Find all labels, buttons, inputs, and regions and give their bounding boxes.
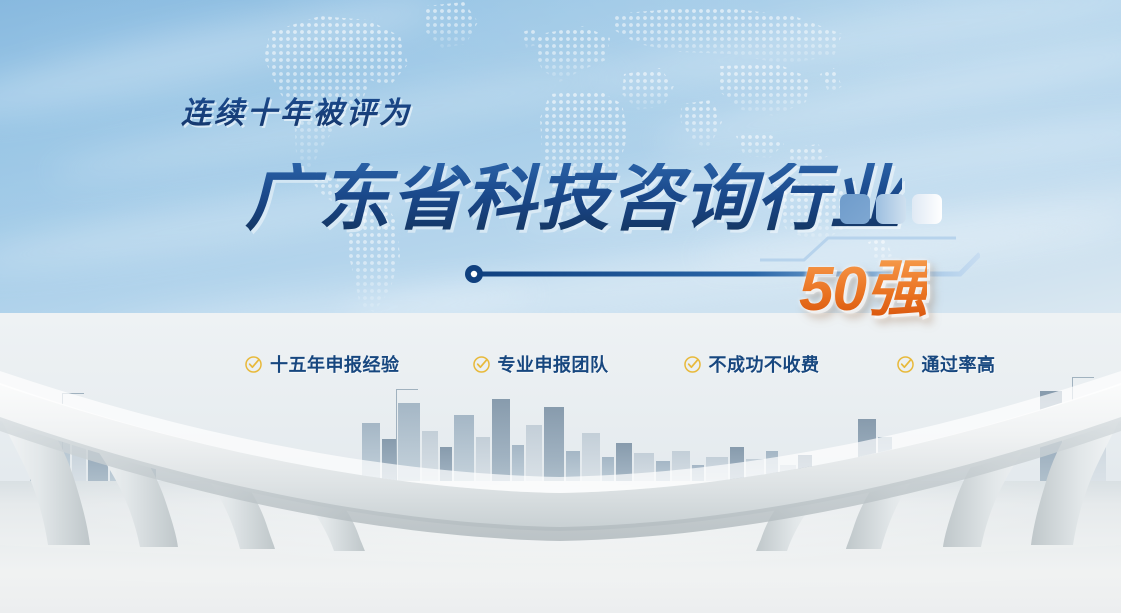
feature-item: 通过率高 [896, 351, 996, 377]
feature-label: 通过率高 [922, 351, 996, 377]
badge-50-strong: 50强 [799, 259, 927, 321]
banner-content: 连续十年被评为 广东省科技咨询行业 [0, 0, 1121, 613]
feature-label: 十五年申报经验 [270, 351, 400, 377]
square-blue-icon [840, 194, 870, 224]
square-white-icon [912, 194, 942, 224]
promo-banner: 连续十年被评为 广东省科技咨询行业 [0, 0, 1121, 613]
check-circle-icon [683, 355, 702, 374]
feature-label: 专业申报团队 [498, 351, 609, 377]
check-circle-icon [896, 355, 915, 374]
square-light-blue-icon [876, 194, 906, 224]
check-circle-icon [244, 355, 263, 374]
check-circle-icon [472, 355, 491, 374]
feature-item: 不成功不收费 [683, 351, 820, 377]
feature-label: 不成功不收费 [709, 351, 820, 377]
kicker-text: 连续十年被评为 [181, 88, 412, 132]
feature-item: 专业申报团队 [472, 351, 609, 377]
feature-item: 十五年申报经验 [244, 351, 400, 377]
decor-squares [840, 194, 942, 224]
feature-list: 十五年申报经验 专业申报团队 [244, 351, 996, 377]
